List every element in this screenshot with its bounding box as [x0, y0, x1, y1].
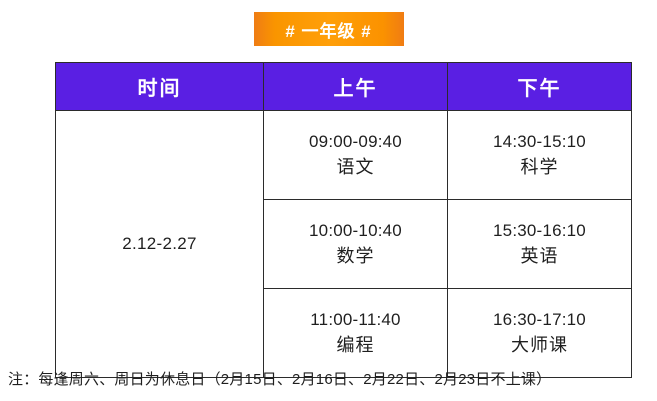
grade-badge: # 一年级 #: [254, 12, 404, 46]
table-header: 时间 上午 下午: [56, 63, 632, 111]
table-row: 2.12-2.27 09:00-09:40 语文 14:30-15:10 科学: [56, 111, 632, 200]
afternoon-slot-time: 15:30-16:10: [450, 219, 629, 244]
schedule-table: 时间 上午 下午 2.12-2.27 09:00-09:40 语文 14:30-…: [55, 62, 632, 378]
morning-slot-time: 11:00-11:40: [266, 308, 445, 333]
afternoon-slot-subject: 英语: [450, 243, 629, 269]
footer-note: 注：每逢周六、周日为休息日（2月15日、2月16日、2月22日、2月23日不上课…: [8, 368, 653, 389]
column-header-morning: 上午: [264, 63, 448, 111]
afternoon-slot-cell: 14:30-15:10 科学: [448, 111, 632, 200]
morning-slot-subject: 编程: [266, 332, 445, 358]
afternoon-slot-time: 14:30-15:10: [450, 130, 629, 155]
afternoon-slot-cell: 16:30-17:10 大师课: [448, 289, 632, 378]
afternoon-slot-subject: 大师课: [450, 332, 629, 358]
table-header-row: 时间 上午 下午: [56, 63, 632, 111]
morning-slot-subject: 语文: [266, 154, 445, 180]
morning-slot-time: 09:00-09:40: [266, 130, 445, 155]
morning-slot-time: 10:00-10:40: [266, 219, 445, 244]
morning-slot-subject: 数学: [266, 243, 445, 269]
grade-badge-container: # 一年级 #: [0, 0, 657, 58]
afternoon-slot-subject: 科学: [450, 154, 629, 180]
column-header-time: 时间: [56, 63, 264, 111]
schedule-table-container: 时间 上午 下午 2.12-2.27 09:00-09:40 语文 14:30-…: [55, 62, 631, 378]
afternoon-slot-cell: 15:30-16:10 英语: [448, 200, 632, 289]
morning-slot-cell: 10:00-10:40 数学: [264, 200, 448, 289]
column-header-afternoon: 下午: [448, 63, 632, 111]
morning-slot-cell: 11:00-11:40 编程: [264, 289, 448, 378]
table-body: 2.12-2.27 09:00-09:40 语文 14:30-15:10 科学 …: [56, 111, 632, 378]
afternoon-slot-time: 16:30-17:10: [450, 308, 629, 333]
morning-slot-cell: 09:00-09:40 语文: [264, 111, 448, 200]
date-range-cell: 2.12-2.27: [56, 111, 264, 378]
